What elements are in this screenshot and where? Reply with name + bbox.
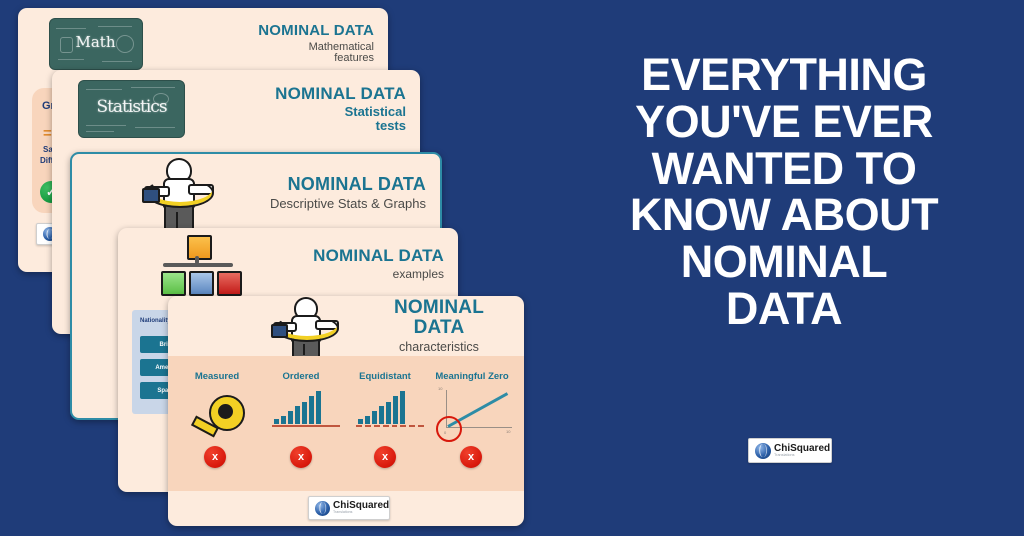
card-header: NOMINAL DATA Descriptive Stats & Graphs (72, 154, 440, 232)
equidistant-bars-icon (356, 390, 426, 432)
headline-line-1: EVERYTHING (556, 52, 1012, 99)
axis-tick-right: 10 (506, 429, 510, 434)
math-chalkboard-art: Math (18, 18, 158, 70)
card-title: NOMINAL DATA (242, 175, 426, 194)
card-subtitle-line-1: Statistical (199, 105, 406, 119)
squares-diagram-icon (149, 231, 249, 297)
card-title-block: NOMINAL DATA Statistical tests (199, 85, 420, 134)
globe-icon (755, 443, 771, 459)
card-title-block: NOMINAL DATA characteristics (380, 298, 524, 354)
headline-line-4: KNOW ABOUT (556, 192, 1012, 239)
card-header: NOMINAL DATA examples (118, 228, 458, 300)
bars-group (358, 390, 405, 424)
axis-tick-top: 10 (438, 386, 442, 391)
headline-line-3: WANTED TO (556, 146, 1012, 193)
square-orange (187, 235, 212, 260)
nationality-panel-header: Nationality (140, 318, 171, 324)
characteristics-table: Measured Ordered Equidistant Meaningful … (168, 356, 524, 491)
measuring-tape-icon (192, 390, 252, 432)
card-subtitle-line-2: features (158, 53, 374, 65)
square-red (217, 271, 242, 296)
person-with-measuring-tape-icon (268, 297, 342, 355)
chisquared-logo: ChiSquared Translations (308, 496, 390, 520)
card-subtitle-line-1: Descriptive Stats & Graphs (242, 197, 426, 211)
origin-highlight-ring (436, 416, 462, 442)
status-badge-measured: x (204, 446, 226, 468)
scatter-origin-icon: 10 10 0 (432, 386, 518, 436)
equals-operator: = (43, 125, 52, 142)
card-subtitle-line-1: characteristics (380, 341, 498, 355)
headline-line-2: YOU'VE EVER (556, 99, 1012, 146)
headline: EVERYTHING YOU'VE EVER WANTED TO KNOW AB… (556, 52, 1012, 333)
card-title-block: NOMINAL DATA Descriptive Stats & Graphs (242, 175, 440, 211)
chalkboard-icon: Statistics (78, 80, 185, 138)
card-title-block: NOMINAL DATA Mathematical features (158, 23, 388, 66)
column-header-measured: Measured (172, 371, 262, 382)
square-blue (189, 271, 214, 296)
logo-text: ChiSquared Translations (774, 444, 830, 458)
ascending-bars-icon (272, 390, 342, 432)
status-badge-equidistant: x (374, 446, 396, 468)
card-title: NOMINAL DATA (264, 247, 444, 265)
axis-arrow (272, 425, 340, 427)
headline-line-5: NOMINAL (556, 239, 1012, 286)
card-header: NOMINAL DATA characteristics (168, 296, 524, 356)
person-with-measuring-tape-icon (138, 156, 216, 230)
card-header: Statistics NOMINAL DATA Statistical test… (52, 70, 420, 148)
square-green (161, 271, 186, 296)
column-header-equidistant: Equidistant (340, 371, 430, 382)
logo-tagline: Translations (774, 454, 830, 458)
poster-canvas: Math NOMINAL DATA Mathematical features … (0, 0, 1024, 536)
logo-text: ChiSquared Translations (333, 501, 389, 515)
axis-tick-zero: 0 (444, 430, 446, 435)
grouped-squares-art (118, 231, 264, 297)
card-title-block: NOMINAL DATA examples (264, 247, 458, 281)
card-title: NOMINAL DATA (199, 85, 406, 103)
card-subtitle-line-1: examples (264, 268, 444, 281)
chalkboard-word: Math (50, 33, 142, 51)
card-subtitle-line-2: tests (199, 119, 406, 133)
chalkboard-icon: Math (49, 18, 143, 70)
chisquared-logo-footer: ChiSquared Translations (748, 438, 832, 463)
column-header-ordered: Ordered (256, 371, 346, 382)
logo-tagline: Translations (333, 511, 389, 515)
headline-line-6: DATA (556, 286, 1012, 333)
card-title: NOMINAL DATA (158, 23, 374, 39)
card-title: NOMINAL DATA (380, 298, 498, 338)
status-badge-ordered: x (290, 446, 312, 468)
card-characteristics[interactable]: NOMINAL DATA characteristics Measured Or… (168, 296, 524, 526)
person-art (72, 156, 242, 230)
person-art (168, 297, 380, 355)
column-header-meaningful-zero: Meaningful Zero (424, 371, 520, 382)
globe-icon (315, 501, 330, 516)
axis-dashes (356, 425, 424, 427)
bars-group (274, 390, 321, 424)
statistics-chalkboard-art: Statistics (52, 80, 199, 138)
chalkboard-word: Statistics (79, 97, 184, 117)
status-badge-meaningful-zero: x (460, 446, 482, 468)
